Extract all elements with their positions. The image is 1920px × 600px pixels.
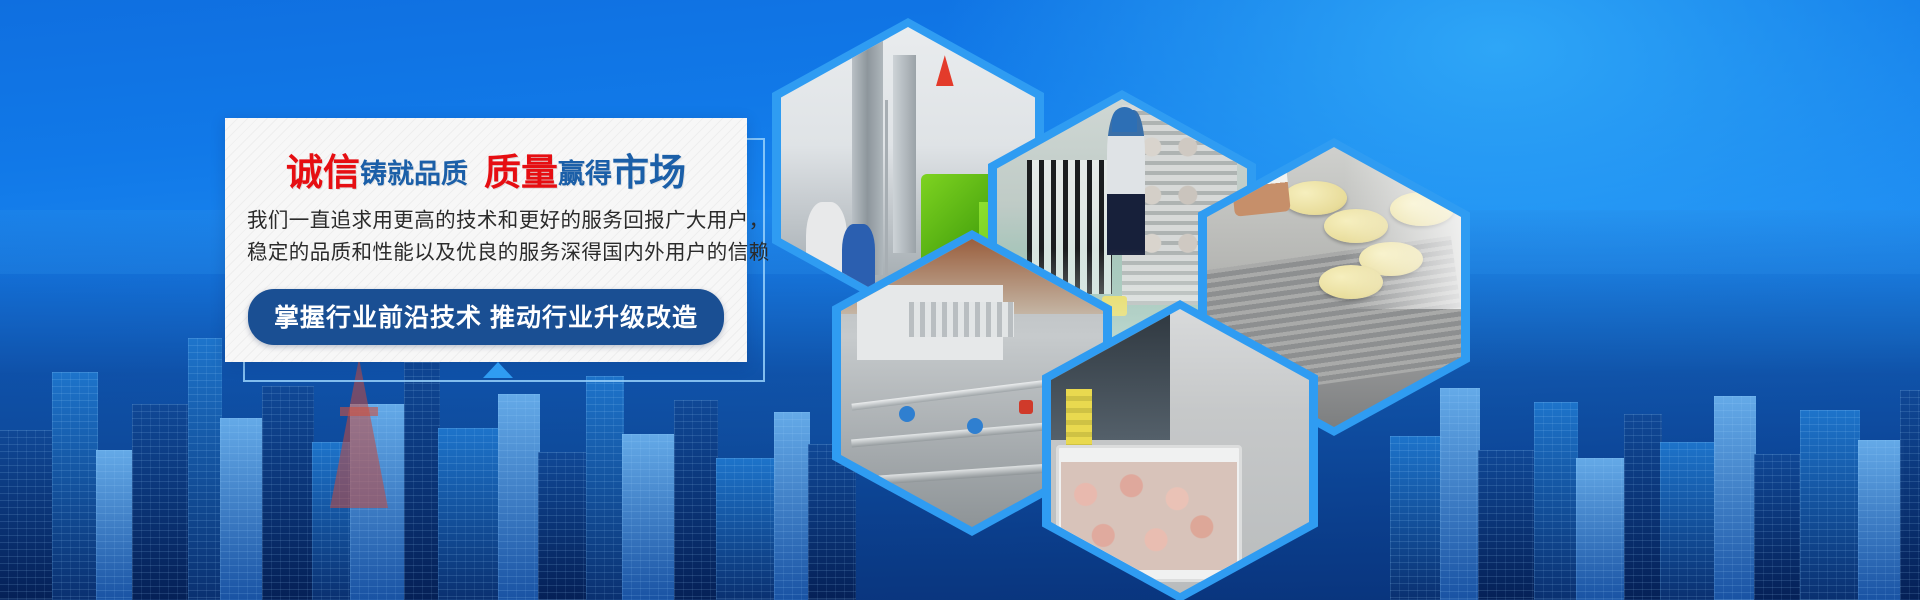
panel-headline: 诚信铸就品质质量赢得市场 xyxy=(247,154,725,191)
headline-segment-3: 质量 xyxy=(484,154,558,191)
cta-button[interactable]: 掌握行业前沿技术 推动行业升级改造 xyxy=(248,289,724,345)
headline-segment-5: 市场 xyxy=(612,154,686,191)
promo-banner: 诚信铸就品质质量赢得市场 我们一直追求用更高的技术和更好的服务回报广大用户， 稳… xyxy=(0,0,1920,600)
promo-panel: 诚信铸就品质质量赢得市场 我们一直追求用更高的技术和更好的服务回报广大用户， 稳… xyxy=(225,118,747,362)
headline-segment-1: 诚信 xyxy=(286,154,360,191)
body-line-1: 我们一直追求用更高的技术和更好的服务回报广大用户， xyxy=(247,205,725,237)
raw-crates-photo xyxy=(1051,309,1309,593)
panel-pointer-triangle xyxy=(483,362,513,378)
body-line-2: 稳定的品质和性能以及优良的服务深得国内外用户的信赖 xyxy=(247,237,725,269)
panel-body-text: 我们一直追求用更高的技术和更好的服务回报广大用户， 稳定的品质和性能以及优良的服… xyxy=(247,205,725,269)
panel-card: 诚信铸就品质质量赢得市场 我们一直追求用更高的技术和更好的服务回报广大用户， 稳… xyxy=(225,118,747,362)
headline-segment-2: 铸就品质 xyxy=(360,161,468,188)
headline-segment-4: 赢得 xyxy=(558,161,612,188)
